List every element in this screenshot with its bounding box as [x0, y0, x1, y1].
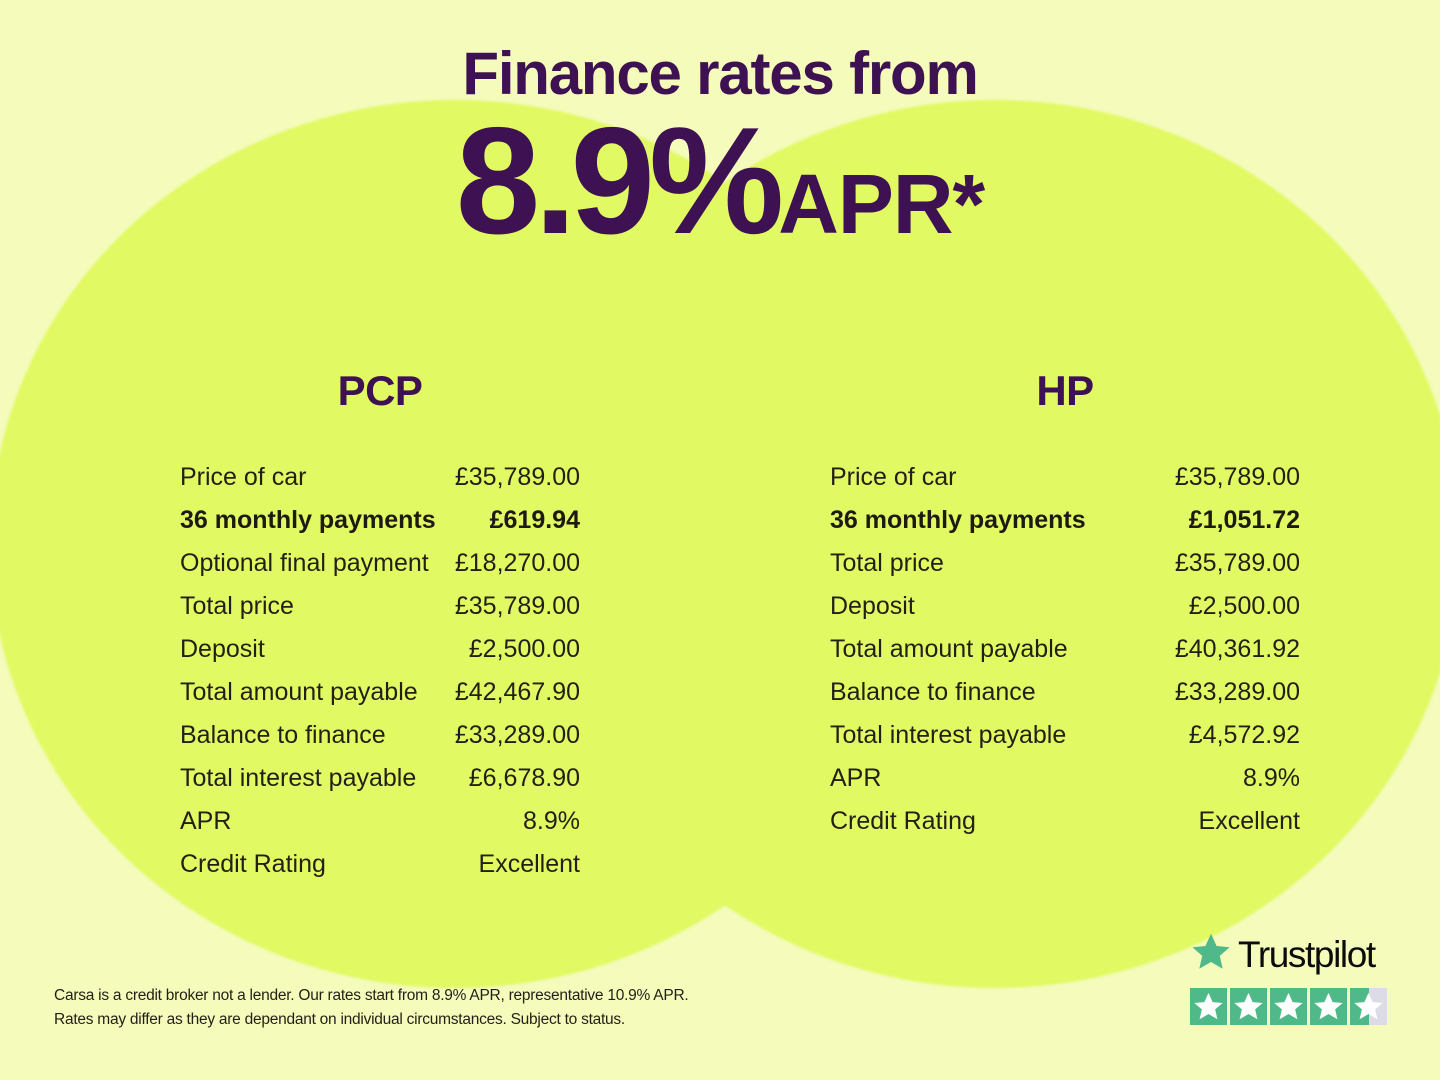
table-row: Balance to finance £33,289.00: [180, 714, 580, 757]
row-value: £35,789.00: [455, 585, 580, 628]
trustpilot-star-icon: [1190, 931, 1232, 978]
table-row: 36 monthly payments £1,051.72: [830, 499, 1300, 542]
row-value: Excellent: [479, 843, 580, 886]
row-value: £619.94: [490, 499, 580, 542]
row-label: Deposit: [830, 585, 915, 628]
column-heading-hp: HP: [830, 370, 1300, 412]
rate-rows-hp: Price of car £35,789.00 36 monthly payme…: [830, 456, 1300, 843]
row-value: £35,789.00: [455, 456, 580, 499]
row-label: Total interest payable: [830, 714, 1066, 757]
trustpilot-star-box-1: [1190, 988, 1227, 1025]
headline-block: Finance rates from 8.9%APR*: [0, 0, 1440, 253]
trustpilot-stars: [1190, 988, 1395, 1025]
rate-rows-pcp: Price of car £35,789.00 36 monthly payme…: [180, 456, 580, 886]
row-label: Credit Rating: [830, 800, 976, 843]
trustpilot-star-box-5: [1350, 988, 1387, 1025]
row-value: £33,289.00: [455, 714, 580, 757]
row-label: Total price: [830, 542, 944, 585]
trustpilot-wordmark: Trustpilot: [1190, 930, 1395, 978]
row-label: Balance to finance: [830, 671, 1036, 714]
row-label: Balance to finance: [180, 714, 386, 757]
row-label: Optional final payment: [180, 542, 429, 585]
row-value: £4,572.92: [1189, 714, 1300, 757]
table-row: APR 8.9%: [830, 757, 1300, 800]
table-row: Total price £35,789.00: [830, 542, 1300, 585]
table-row: Total price £35,789.00: [180, 585, 580, 628]
table-row: Credit Rating Excellent: [830, 800, 1300, 843]
table-row: Total interest payable £4,572.92: [830, 714, 1300, 757]
table-row: Price of car £35,789.00: [180, 456, 580, 499]
finance-tables: PCP Price of car £35,789.00 36 monthly p…: [0, 370, 1440, 886]
finance-rates-graphic: Finance rates from 8.9%APR* PCP Price of…: [0, 0, 1440, 1080]
row-value: £35,789.00: [1175, 542, 1300, 585]
row-label: 36 monthly payments: [830, 499, 1086, 542]
row-label: APR: [830, 757, 881, 800]
table-row: Credit Rating Excellent: [180, 843, 580, 886]
column-heading-pcp: PCP: [180, 370, 580, 412]
row-value: £42,467.90: [455, 671, 580, 714]
rate-unit: APR*: [778, 157, 984, 251]
table-row: Total amount payable £42,467.90: [180, 671, 580, 714]
row-label: Deposit: [180, 628, 265, 671]
table-row: Total interest payable £6,678.90: [180, 757, 580, 800]
row-label: Credit Rating: [180, 843, 326, 886]
row-value: 8.9%: [1243, 757, 1300, 800]
row-value: Excellent: [1199, 800, 1300, 843]
row-value: £1,051.72: [1189, 499, 1300, 542]
disclaimer-text: Carsa is a credit broker not a lender. O…: [54, 984, 814, 1032]
table-row: Balance to finance £33,289.00: [830, 671, 1300, 714]
rate-headline: 8.9%APR*: [0, 105, 1440, 253]
row-value: £33,289.00: [1175, 671, 1300, 714]
row-label: APR: [180, 800, 231, 843]
finance-column-pcp: PCP Price of car £35,789.00 36 monthly p…: [0, 370, 720, 886]
row-value: £40,361.92: [1175, 628, 1300, 671]
row-label: Total interest payable: [180, 757, 416, 800]
table-row: 36 monthly payments £619.94: [180, 499, 580, 542]
table-row: Deposit £2,500.00: [180, 628, 580, 671]
row-label: Total amount payable: [830, 628, 1068, 671]
row-label: Total price: [180, 585, 294, 628]
row-value: £2,500.00: [1189, 585, 1300, 628]
finance-column-hp: HP Price of car £35,789.00 36 monthly pa…: [720, 370, 1440, 886]
row-value: £6,678.90: [469, 757, 580, 800]
row-label: 36 monthly payments: [180, 499, 436, 542]
row-value: £18,270.00: [455, 542, 580, 585]
row-value: 8.9%: [523, 800, 580, 843]
table-row: Price of car £35,789.00: [830, 456, 1300, 499]
disclaimer-line-1: Carsa is a credit broker not a lender. O…: [54, 984, 814, 1008]
table-row: APR 8.9%: [180, 800, 580, 843]
row-label: Price of car: [180, 456, 306, 499]
row-label: Total amount payable: [180, 671, 418, 714]
page-title: Finance rates from: [0, 0, 1440, 105]
row-label: Price of car: [830, 456, 956, 499]
trustpilot-star-box-3: [1270, 988, 1307, 1025]
table-row: Optional final payment £18,270.00: [180, 542, 580, 585]
table-row: Total amount payable £40,361.92: [830, 628, 1300, 671]
disclaimer-line-2: Rates may differ as they are dependant o…: [54, 1008, 814, 1032]
trustpilot-star-box-2: [1230, 988, 1267, 1025]
table-row: Deposit £2,500.00: [830, 585, 1300, 628]
row-value: £2,500.00: [469, 628, 580, 671]
trustpilot-name: Trustpilot: [1238, 936, 1375, 973]
row-value: £35,789.00: [1175, 456, 1300, 499]
trustpilot-rating: Trustpilot: [1190, 930, 1395, 1025]
rate-value: 8.9%: [456, 96, 778, 266]
trustpilot-star-box-4: [1310, 988, 1347, 1025]
